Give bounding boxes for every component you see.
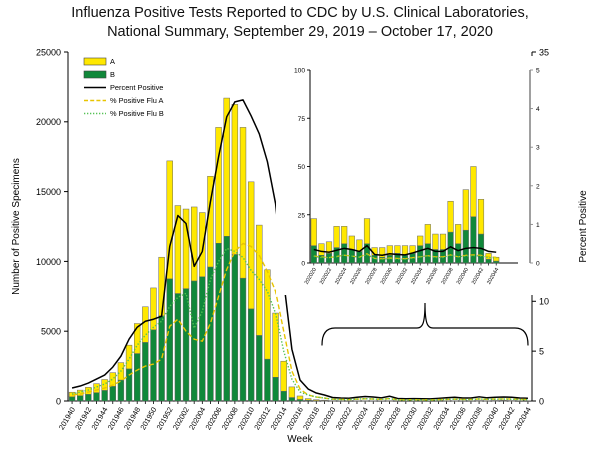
- bar-segment-a: [427, 401, 433, 402]
- inset-bar-segment-a: [440, 234, 446, 249]
- inset-y-tick-label-left: 25: [298, 212, 306, 219]
- inset-bar-segment-a: [364, 219, 370, 244]
- y-tick-label-right: 5: [539, 347, 544, 357]
- y-tick-label-left: 25000: [36, 47, 61, 57]
- bar-segment-a: [395, 401, 401, 402]
- bar-segment-a: [321, 400, 327, 401]
- inset-y-tick-label-right: 4: [536, 106, 540, 113]
- inset-bar-segment-b: [493, 261, 499, 263]
- bar-segment-b: [85, 394, 91, 401]
- bar-segment-b: [199, 277, 205, 401]
- inset-bar-segment-a: [478, 199, 484, 234]
- bar-segment-a: [492, 400, 498, 401]
- y-tick-label-left: 5000: [41, 327, 61, 337]
- inset-bar-segment-a: [341, 226, 347, 243]
- bar-segment-a: [240, 127, 246, 278]
- bar-segment-b: [224, 236, 230, 401]
- bar-segment-a: [199, 213, 205, 277]
- legend-swatch-bar: [84, 58, 106, 65]
- inset-bar-segment-b: [486, 259, 492, 263]
- inset-y-tick-label-left: 75: [298, 116, 306, 123]
- inset-connector-brace: [322, 303, 528, 345]
- inset-bar-segment-b: [425, 244, 431, 263]
- bar-segment-a: [444, 401, 450, 402]
- inset-bar-segment-a: [433, 234, 439, 249]
- y-axis-label-left: Number of Positive Specimens: [11, 158, 22, 295]
- bar-segment-a: [232, 104, 238, 254]
- bar-segment-a: [370, 401, 376, 402]
- inset-bar-segment-a: [319, 244, 325, 256]
- inset-y-tick-label-right: 1: [536, 222, 540, 229]
- legend-label: % Positive Flu B: [110, 109, 164, 118]
- inset-bar-segment-a: [425, 224, 431, 243]
- inset-bar-segment-b: [417, 246, 423, 263]
- inset-y-tick-label-left: 100: [294, 68, 305, 75]
- bar-segment-a: [460, 401, 466, 402]
- y-tick-label-right: 0: [539, 396, 544, 406]
- legend-label: B: [110, 70, 115, 79]
- inset-y-tick-label-right: 0: [536, 261, 540, 268]
- bar-segment-b: [240, 278, 246, 401]
- bar-segment-a: [468, 401, 474, 402]
- inset-bar-segment-a: [448, 201, 454, 232]
- bar-segment-b: [151, 330, 157, 401]
- inset-bar-segment-b: [311, 246, 317, 263]
- bar-segment-b: [191, 281, 197, 401]
- bar-segment-b: [142, 342, 148, 401]
- bar-segment-a: [419, 401, 425, 402]
- legend: ABPercent Positive% Positive Flu A% Posi…: [84, 57, 164, 118]
- bar-segment-b: [183, 289, 189, 401]
- bar-segment-b: [175, 294, 181, 401]
- bar-segment-b: [102, 390, 108, 401]
- bar-segment-a: [378, 401, 384, 402]
- x-tick-label: 202044: [513, 406, 533, 432]
- bar-segment-a: [411, 401, 417, 402]
- legend-label: A: [110, 57, 115, 66]
- bar-segment-b: [69, 397, 75, 401]
- bar-segment-a: [159, 257, 165, 316]
- inset-y-tick-label-left: 50: [298, 164, 306, 171]
- y-tick-label-left: 15000: [36, 187, 61, 197]
- inset-bar-segment-a: [463, 190, 469, 231]
- inset-y-tick-label-right: 3: [536, 145, 540, 152]
- legend-label: Percent Positive: [110, 83, 163, 92]
- bar-segment-a: [403, 401, 409, 402]
- bar-segment-b: [159, 316, 165, 401]
- inset-bar-segment-b: [455, 244, 461, 263]
- inset-bar-segment-a: [349, 236, 355, 250]
- bar-segment-b: [281, 391, 287, 401]
- bar-segment-a: [338, 401, 344, 402]
- inset-bar-segment-a: [334, 226, 340, 247]
- inset-bar-segment-a: [455, 224, 461, 243]
- legend-swatch-bar: [84, 71, 106, 78]
- y-tick-label-right: 35: [539, 47, 549, 57]
- inset-bar-segment-a: [471, 167, 477, 217]
- y-tick-label-left: 0: [56, 396, 61, 406]
- x-axis-label: Week: [287, 434, 313, 445]
- bar-segment-b: [265, 359, 271, 401]
- bar-segment-b: [273, 377, 279, 401]
- bar-segment-b: [134, 354, 140, 401]
- bar-segment-a: [265, 270, 271, 359]
- bar-segment-a: [452, 401, 458, 402]
- bar-segment-a: [501, 400, 507, 401]
- bar-segment-a: [313, 400, 319, 401]
- bar-segment-b: [110, 386, 116, 401]
- y-tick-label-left: 10000: [36, 257, 61, 267]
- bar-segment-a: [484, 401, 490, 402]
- bar-segment-b: [118, 380, 124, 401]
- inset-y-tick-label-left: 0: [301, 261, 305, 268]
- bar-segment-a: [151, 288, 157, 330]
- y-axis-label-right: Percent Positive: [578, 190, 589, 263]
- bar-segment-a: [517, 401, 523, 402]
- inset-y-tick-label-right: 5: [536, 68, 540, 75]
- bar-segment-a: [142, 307, 148, 343]
- bar-segment-a: [435, 401, 441, 402]
- inset-bar-segment-a: [395, 246, 401, 254]
- bar-segment-a: [281, 361, 287, 391]
- inset-bar-segment-b: [463, 230, 469, 263]
- bar-segment-b: [248, 309, 254, 401]
- bar-segment-a: [476, 401, 482, 402]
- influenza-chart: 050001000015000200002500005101520253035N…: [0, 0, 600, 450]
- bar-segment-a: [191, 207, 197, 281]
- bar-segment-a: [509, 401, 515, 402]
- bar-segment-a: [354, 401, 360, 402]
- bar-segment-a: [387, 401, 393, 402]
- bar-segment-b: [167, 279, 173, 401]
- bar-segment-a: [346, 401, 352, 402]
- bar-segment-a: [175, 206, 181, 294]
- inset-bar-segment-a: [311, 219, 317, 246]
- legend-label: % Positive Flu A: [110, 96, 163, 105]
- bar-segment-b: [256, 335, 262, 401]
- bar-segment-a: [126, 345, 132, 369]
- bar-segment-b: [232, 254, 238, 401]
- bar-segment-a: [305, 399, 311, 401]
- inset-bar-segment-b: [341, 244, 347, 263]
- bar-segment-a: [330, 401, 336, 402]
- inset-y-tick-label-right: 2: [536, 183, 540, 190]
- y-tick-label-left: 20000: [36, 117, 61, 127]
- bar-segment-b: [289, 398, 295, 401]
- bar-segment-a: [297, 396, 303, 399]
- bar-segment-b: [94, 393, 100, 401]
- y-tick-label-right: 10: [539, 297, 549, 307]
- bar-segment-a: [525, 401, 531, 402]
- bar-segment-a: [289, 387, 295, 398]
- bar-segment-a: [362, 401, 368, 402]
- inset-plot: 0255075100012345202020202022202024202026…: [276, 56, 566, 295]
- bar-segment-b: [77, 396, 83, 401]
- inset-bar-segment-a: [417, 236, 423, 246]
